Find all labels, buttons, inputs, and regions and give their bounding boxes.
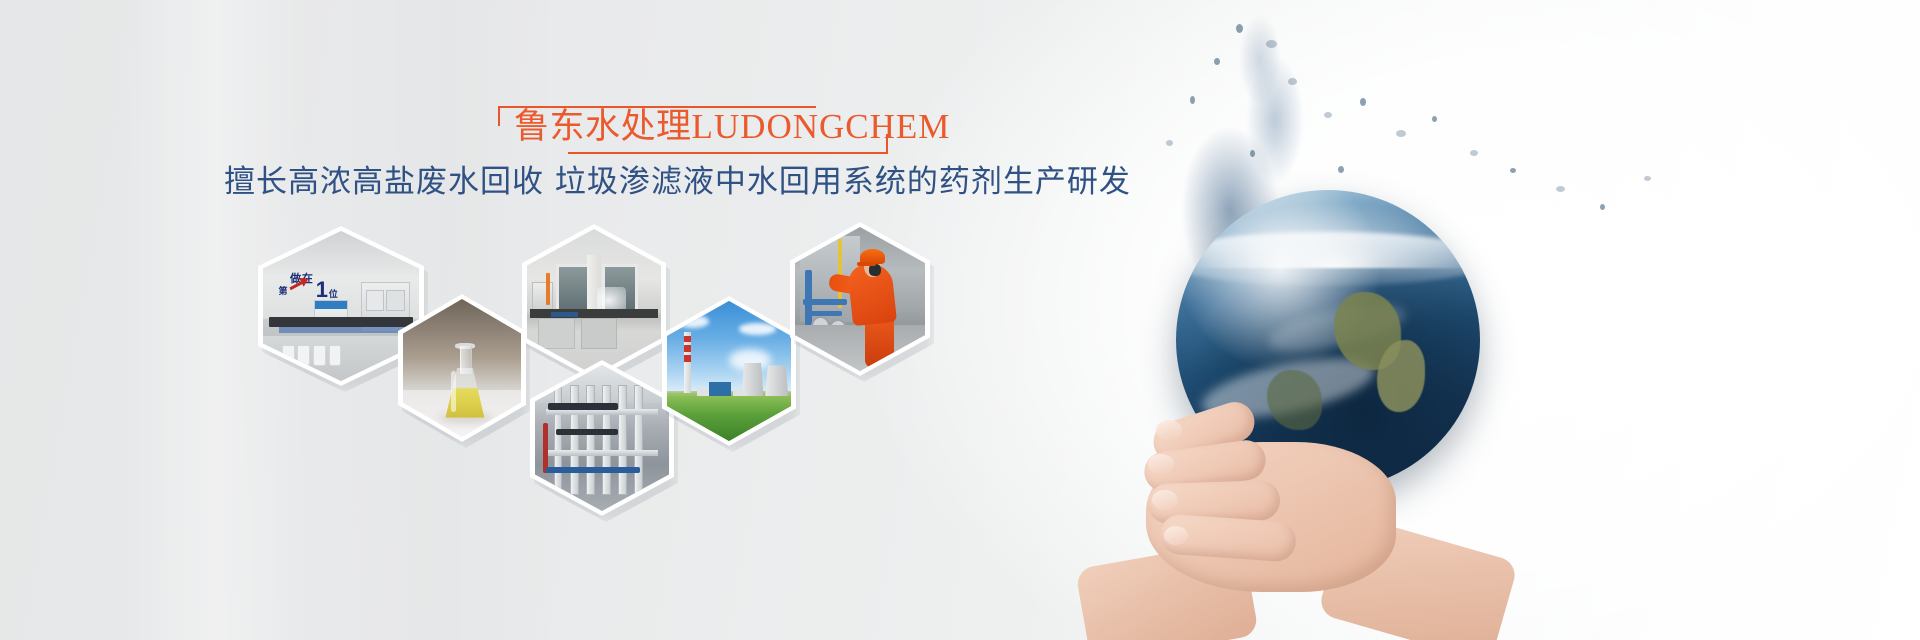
lab-hood-bench [530, 309, 659, 318]
fingernail-index [1156, 420, 1182, 440]
wall-slogan: 做在 第 1 位 [277, 270, 349, 303]
plant-cloud-2 [739, 323, 776, 334]
lab-jug-3 [313, 345, 326, 367]
water-droplet [1214, 58, 1220, 65]
water-droplet [1396, 130, 1406, 137]
worker-pipe-vertical [805, 270, 812, 328]
skid-manifold-dark [548, 403, 618, 410]
water-droplet [1166, 140, 1173, 146]
lab-hood-blue-trim [551, 312, 578, 316]
cabinet-door-right [386, 290, 405, 311]
cabinet-door-left [366, 290, 385, 311]
wall-slogan-number: 1 [316, 279, 328, 301]
water-droplet [1360, 98, 1366, 106]
chimney-stripe-1 [684, 336, 690, 343]
worker-yellow-conduit [838, 239, 842, 308]
skid-manifold-dark-2 [556, 429, 618, 435]
lab-stand-orange [546, 273, 550, 305]
water-droplet [1266, 40, 1277, 48]
water-droplet [1470, 150, 1478, 156]
worker-helmet-brim [857, 262, 875, 266]
fingernail-little [1164, 526, 1188, 545]
plant-chimney [684, 332, 690, 394]
water-droplet [1600, 204, 1605, 210]
water-droplet [1556, 186, 1565, 192]
lab-bench-blue-trim [279, 327, 410, 333]
chimney-stripe-3 [684, 355, 690, 362]
water-droplet [1250, 150, 1255, 157]
skid-header-mid [546, 450, 659, 456]
water-droplet [1510, 168, 1516, 173]
skid-vessel-2 [570, 385, 579, 495]
skid-vessel-6 [634, 385, 643, 495]
plant-cooling-tower-2 [765, 365, 789, 399]
hands-holding-globe [1060, 368, 1500, 640]
lab-hood-cabinet-left [538, 318, 575, 349]
water-droplet [1338, 166, 1344, 173]
plant-cooling-tower-1 [741, 363, 763, 399]
worker-face-shield [869, 264, 881, 276]
water-droplet [1288, 78, 1297, 85]
wall-slogan-mid: 第 [278, 284, 287, 297]
chimney-stripe-2 [684, 345, 690, 352]
skid-blue-pipe [546, 467, 640, 473]
globe-wave [1176, 232, 1480, 286]
hexagon-photo-cluster: 做在 第 1 位 [0, 0, 1100, 640]
skid-vessel-3 [586, 385, 595, 495]
lab-bench [269, 317, 413, 328]
water-droplet [1432, 116, 1437, 122]
water-droplet [1644, 176, 1651, 181]
lab-jug-4 [329, 345, 342, 367]
flask-gloss-highlight [451, 371, 456, 412]
lab-oven [532, 282, 553, 310]
fingernail-middle [1148, 454, 1174, 474]
water-droplet [1324, 112, 1332, 118]
worker-pipe-horizontal-2 [808, 311, 842, 317]
water-globe-scene [1040, 0, 1920, 640]
lab-hood-cabinet-right [581, 318, 618, 349]
wall-slogan-end: 位 [329, 287, 338, 300]
water-droplet [1190, 96, 1195, 104]
skid-vessel-5 [618, 385, 627, 495]
skid-vessel-4 [602, 385, 611, 495]
fingernail-ring [1152, 490, 1178, 510]
skid-vessel-1 [554, 385, 563, 495]
water-droplet [1236, 24, 1243, 33]
banner-stage: 鲁东水处理LUDONGCHEM 擅长高浓高盐废水回收 垃圾渗滤液中水回用系统的药… [0, 0, 1920, 640]
skid-red-pipe [543, 423, 548, 473]
